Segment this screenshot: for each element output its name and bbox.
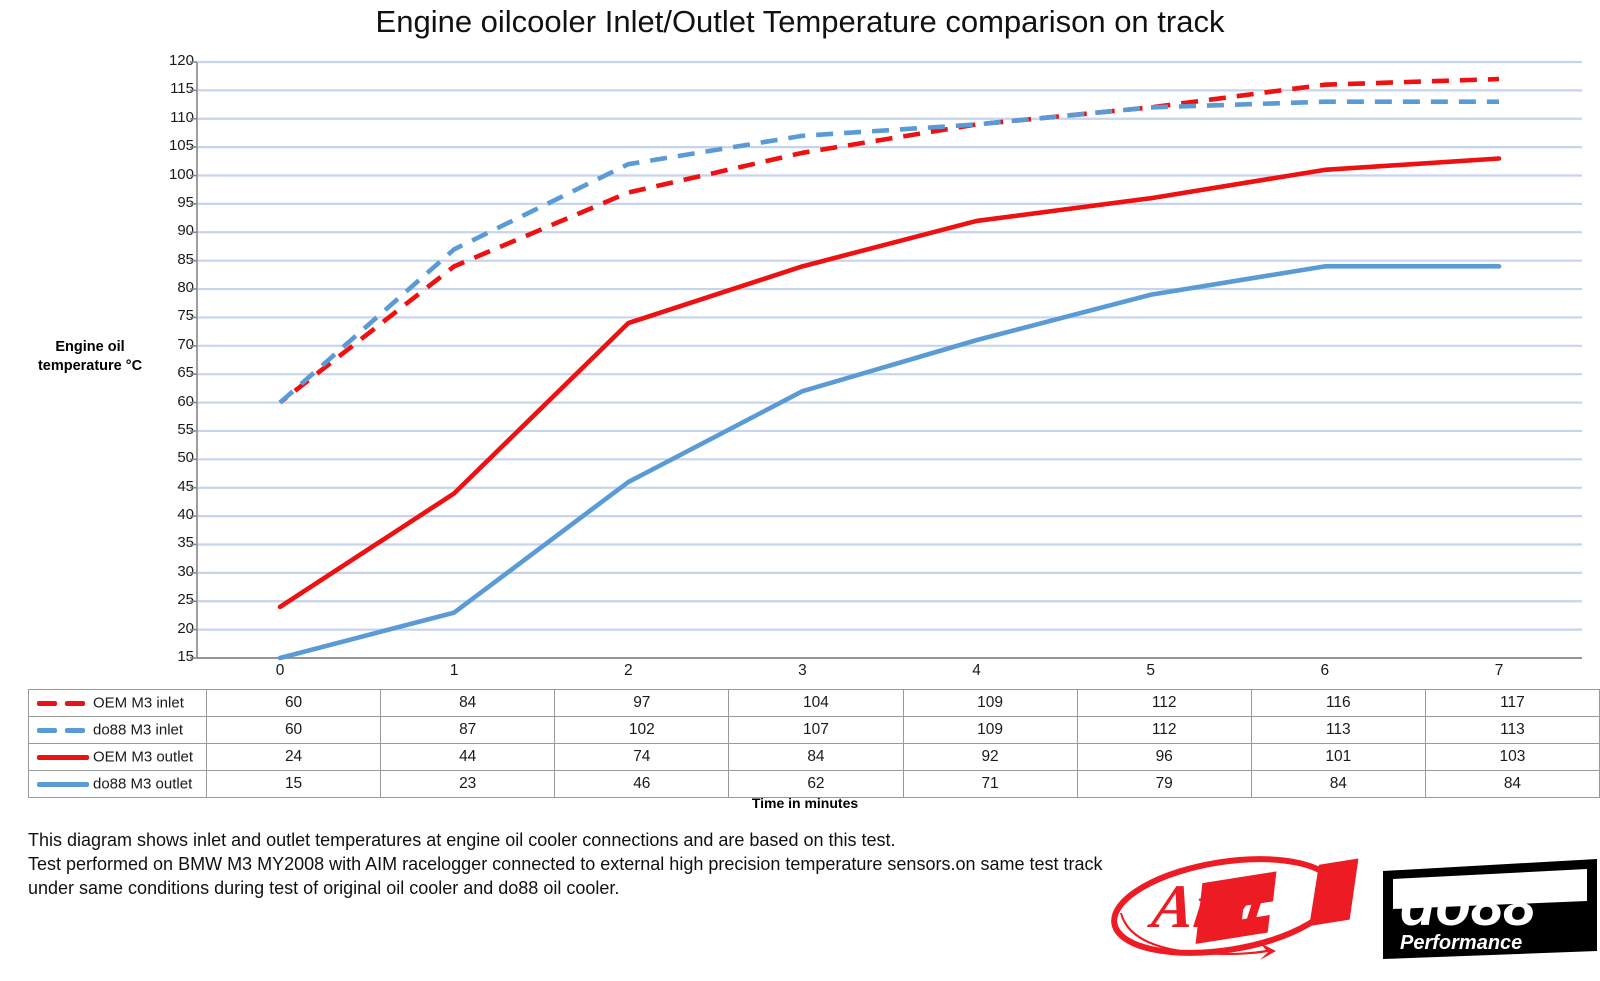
chart-plot-area: Engine oil temperature °C 12011511010510… [0,0,1600,660]
table-cell: 102 [555,717,729,744]
do88-logo-text: do88 [1400,873,1536,938]
table-cell: 113 [1251,717,1425,744]
table-cell: 62 [729,771,903,798]
x-axis-tick-3: 3 [798,662,807,680]
legend-swatch-icon [37,750,89,764]
footnote-line-1: This diagram shows inlet and outlet temp… [28,828,1278,852]
table-cell: 23 [381,771,555,798]
legend-entry: OEM M3 outlet [29,744,207,771]
table-cell: 84 [1425,771,1599,798]
table-row: OEM M3 inlet608497104109112116117 [29,690,1600,717]
table-cell: 84 [381,690,555,717]
footnote-text: This diagram shows inlet and outlet temp… [28,828,1278,900]
table-cell: 113 [1425,717,1599,744]
table-cell: 24 [207,744,381,771]
series-line-oem-m3-outlet [280,158,1499,606]
x-axis-tick-5: 5 [1146,662,1155,680]
do88-logo: do88 Performance [1383,859,1597,959]
footnote-line-3: under same conditions during test of ori… [28,876,1278,900]
table-cell: 112 [1077,690,1251,717]
table-cell: 101 [1251,744,1425,771]
x-axis-tick-labels: 01234567 [0,662,1600,688]
table-cell: 15 [207,771,381,798]
legend-entry: do88 M3 outlet [29,771,207,798]
table-cell: 117 [1425,690,1599,717]
legend-swatch-icon [37,723,89,737]
table-cell: 112 [1077,717,1251,744]
table-cell: 92 [903,744,1077,771]
series-line-do88-m3-outlet [280,266,1499,658]
table-row: OEM M3 outlet244474849296101103 [29,744,1600,771]
table-cell: 46 [555,771,729,798]
table-row: do88 M3 inlet6087102107109112113113 [29,717,1600,744]
legend-label: OEM M3 outlet [93,749,193,766]
legend-label: do88 M3 outlet [93,776,192,793]
aim-logo-text: AiM [1144,872,1274,941]
table-cell: 87 [381,717,555,744]
table-cell: 60 [207,717,381,744]
x-axis-tick-4: 4 [972,662,981,680]
x-axis-tick-0: 0 [276,662,285,680]
table-cell: 103 [1425,744,1599,771]
table-cell: 84 [1251,771,1425,798]
table-cell: 79 [1077,771,1251,798]
legend-label: OEM M3 inlet [93,695,184,712]
logo-group: AiM do88 Performance [1100,843,1600,973]
chart-canvas [0,0,1600,662]
x-axis-tick-7: 7 [1495,662,1504,680]
footnote-line-2: Test performed on BMW M3 MY2008 with AIM… [28,852,1278,876]
table-cell: 109 [903,690,1077,717]
x-axis-label: Time in minutes [28,795,1582,811]
table-cell: 116 [1251,690,1425,717]
x-axis-tick-1: 1 [450,662,459,680]
table-cell: 107 [729,717,903,744]
x-axis-tick-6: 6 [1321,662,1330,680]
aim-logo: AiM [1107,845,1361,967]
table-cell: 44 [381,744,555,771]
legend-label: do88 M3 inlet [93,722,183,739]
table-cell: 74 [555,744,729,771]
legend-entry: do88 M3 inlet [29,717,207,744]
table-cell: 84 [729,744,903,771]
table-cell: 109 [903,717,1077,744]
legend-swatch-icon [37,696,89,710]
legend-entry: OEM M3 inlet [29,690,207,717]
series-data-table: OEM M3 inlet608497104109112116117do88 M3… [28,689,1600,798]
table-cell: 97 [555,690,729,717]
legend-swatch-icon [37,777,89,791]
table-cell: 96 [1077,744,1251,771]
table-row: do88 M3 outlet1523466271798484 [29,771,1600,798]
table-cell: 104 [729,690,903,717]
x-axis-tick-2: 2 [624,662,633,680]
series-line-oem-m3-inlet [280,79,1499,403]
do88-logo-subtext: Performance [1400,932,1522,954]
table-cell: 60 [207,690,381,717]
table-cell: 71 [903,771,1077,798]
logos-svg: AiM do88 Performance [1100,843,1600,973]
